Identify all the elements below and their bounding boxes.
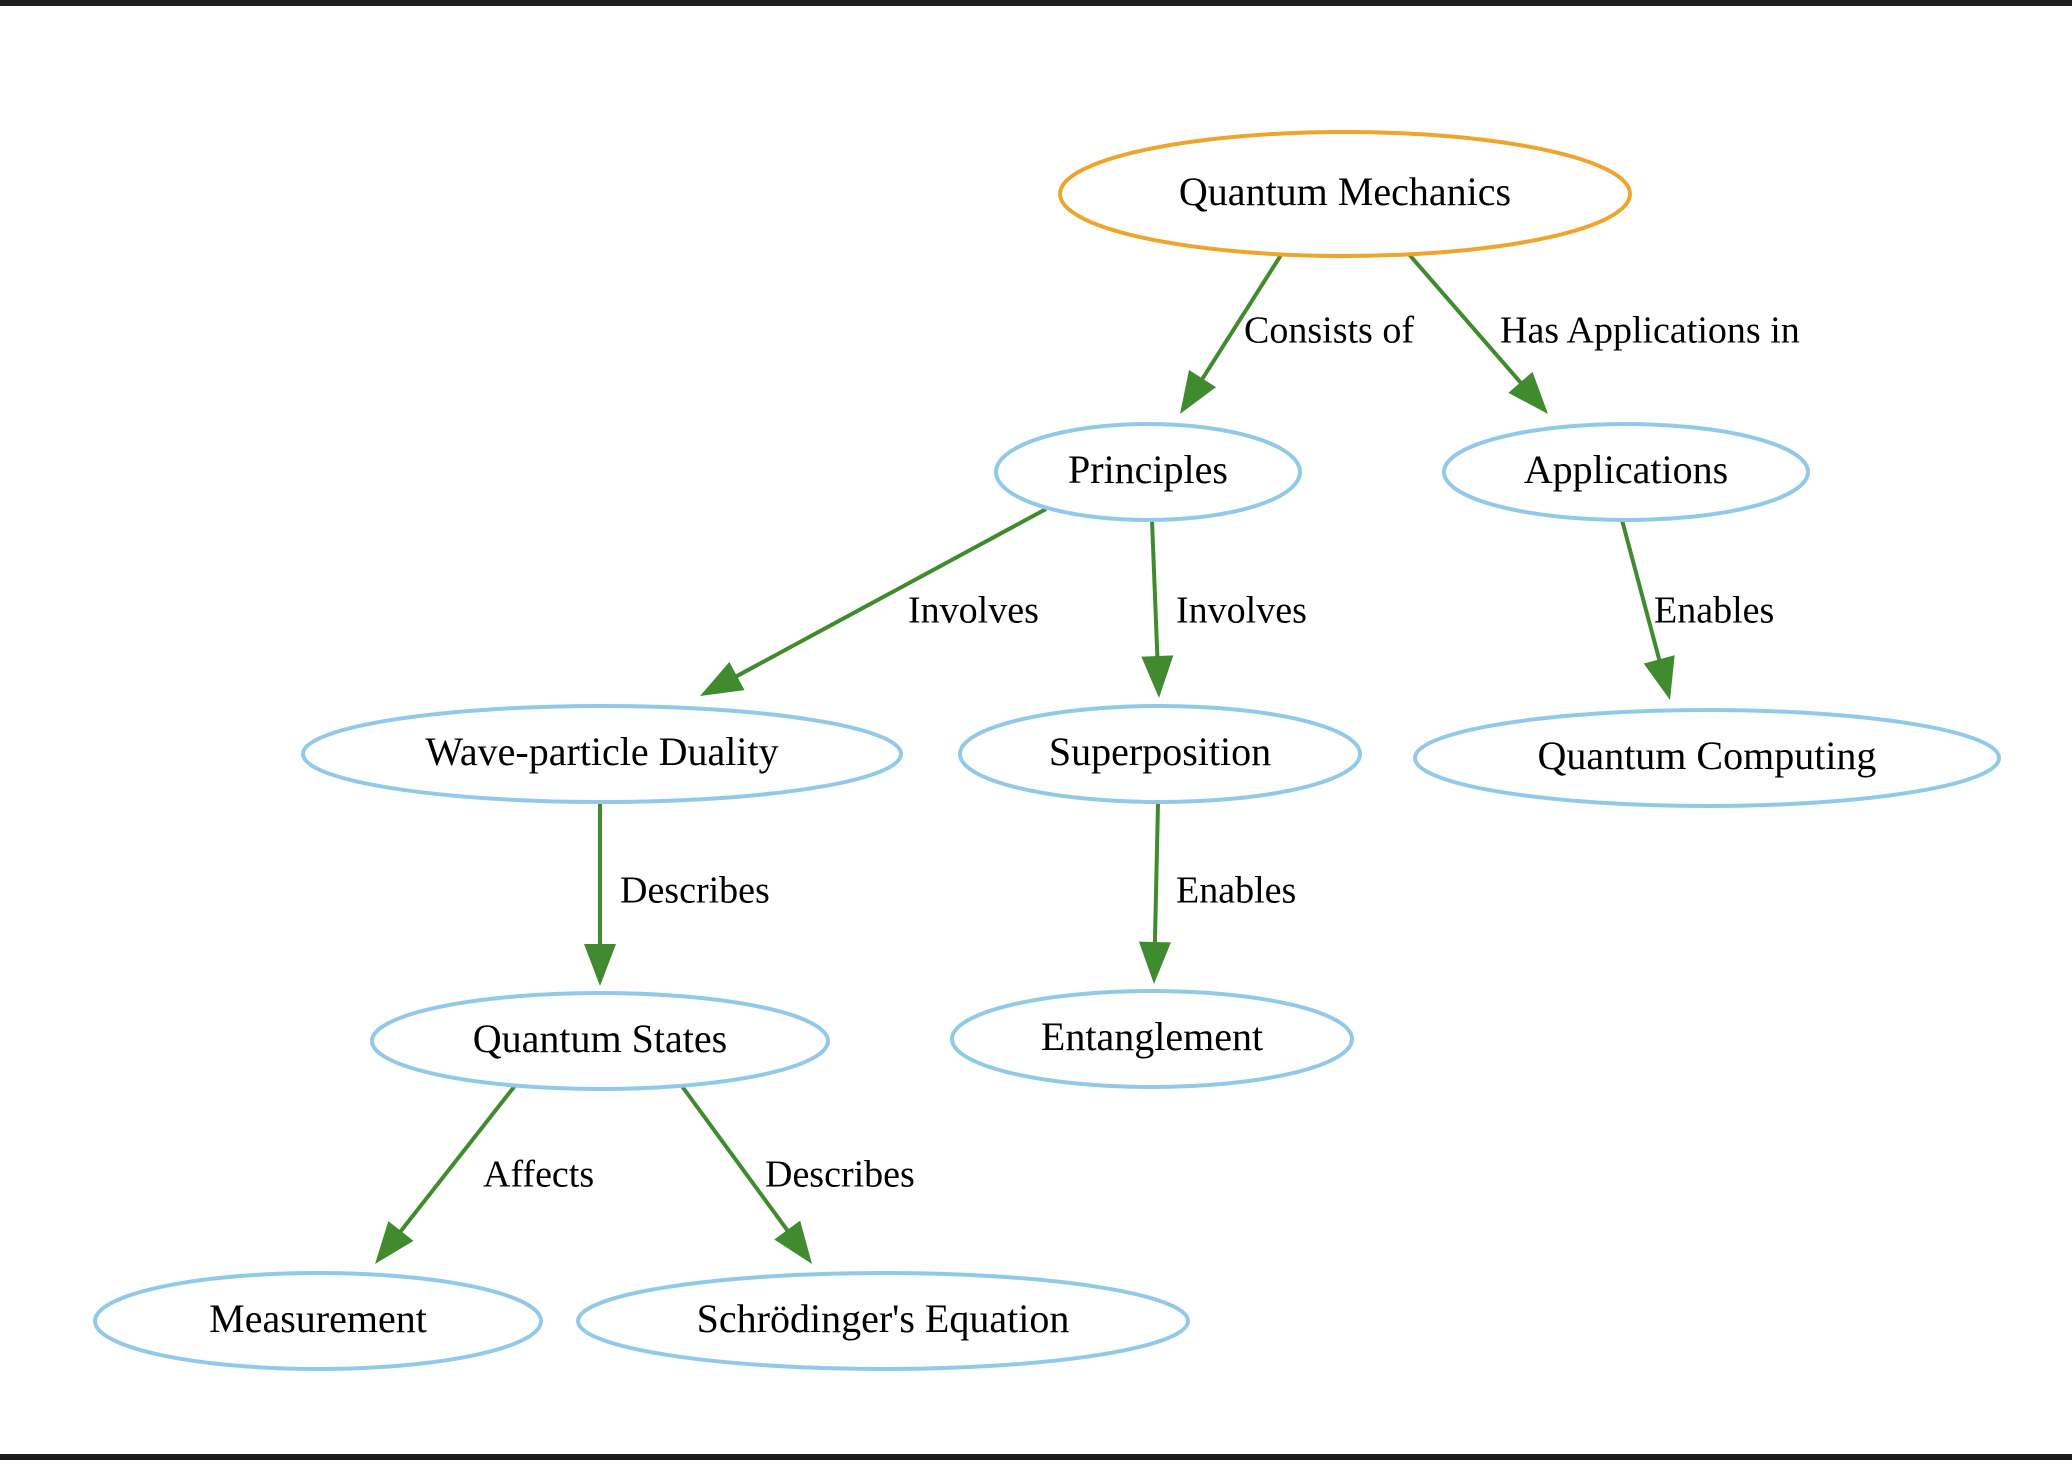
node-label-quantum-states: Quantum States: [473, 1016, 727, 1061]
edge-label-quantum-states-to-measurement: Affects: [483, 1154, 594, 1196]
node-label-measurement: Measurement: [209, 1296, 427, 1341]
edge-label-principles-to-superposition: Involves: [1176, 590, 1307, 632]
node-label-superposition: Superposition: [1049, 729, 1271, 774]
edge-label-applications-to-quantum-computing: Enables: [1654, 590, 1774, 632]
node-label-applications: Applications: [1524, 447, 1728, 492]
node-label-quantum-mechanics: Quantum Mechanics: [1179, 169, 1511, 214]
node-label-schrodingers-equation: Schrödinger's Equation: [697, 1296, 1070, 1341]
node-wave-particle-duality[interactable]: Wave-particle Duality: [303, 706, 901, 802]
node-measurement[interactable]: Measurement: [95, 1273, 541, 1369]
node-applications[interactable]: Applications: [1444, 424, 1808, 520]
node-schrodingers-equation[interactable]: Schrödinger's Equation: [578, 1273, 1188, 1369]
edge-superposition-to-entanglement: [1139, 803, 1171, 984]
node-label-entanglement: Entanglement: [1041, 1014, 1263, 1059]
edge-label-quantum-states-to-schrodingers-equation: Describes: [765, 1154, 915, 1196]
node-quantum-states[interactable]: Quantum States: [372, 993, 828, 1089]
concept-map-svg: Quantum MechanicsPrinciplesApplicationsW…: [0, 6, 2072, 1466]
edge-label-quantum-mechanics-to-principles: Consists of: [1244, 310, 1414, 352]
diagram-canvas: Quantum MechanicsPrinciplesApplicationsW…: [0, 0, 2072, 1460]
node-entanglement[interactable]: Entanglement: [952, 991, 1352, 1087]
node-quantum-mechanics[interactable]: Quantum Mechanics: [1060, 132, 1630, 256]
node-label-quantum-computing: Quantum Computing: [1538, 733, 1877, 778]
edge-label-superposition-to-entanglement: Enables: [1176, 870, 1296, 912]
edge-principles-to-superposition: [1141, 520, 1173, 698]
node-label-principles: Principles: [1068, 447, 1228, 492]
edge-label-quantum-mechanics-to-applications: Has Applications in: [1500, 310, 1800, 352]
node-principles[interactable]: Principles: [996, 424, 1300, 520]
edge-label-wave-particle-duality-to-quantum-states: Describes: [620, 870, 770, 912]
node-label-wave-particle-duality: Wave-particle Duality: [425, 729, 778, 774]
node-superposition[interactable]: Superposition: [960, 706, 1360, 802]
edge-label-principles-to-wave-particle-duality: Involves: [908, 590, 1039, 632]
edge-wave-particle-duality-to-quantum-states: [584, 803, 616, 986]
node-quantum-computing[interactable]: Quantum Computing: [1415, 710, 1999, 806]
